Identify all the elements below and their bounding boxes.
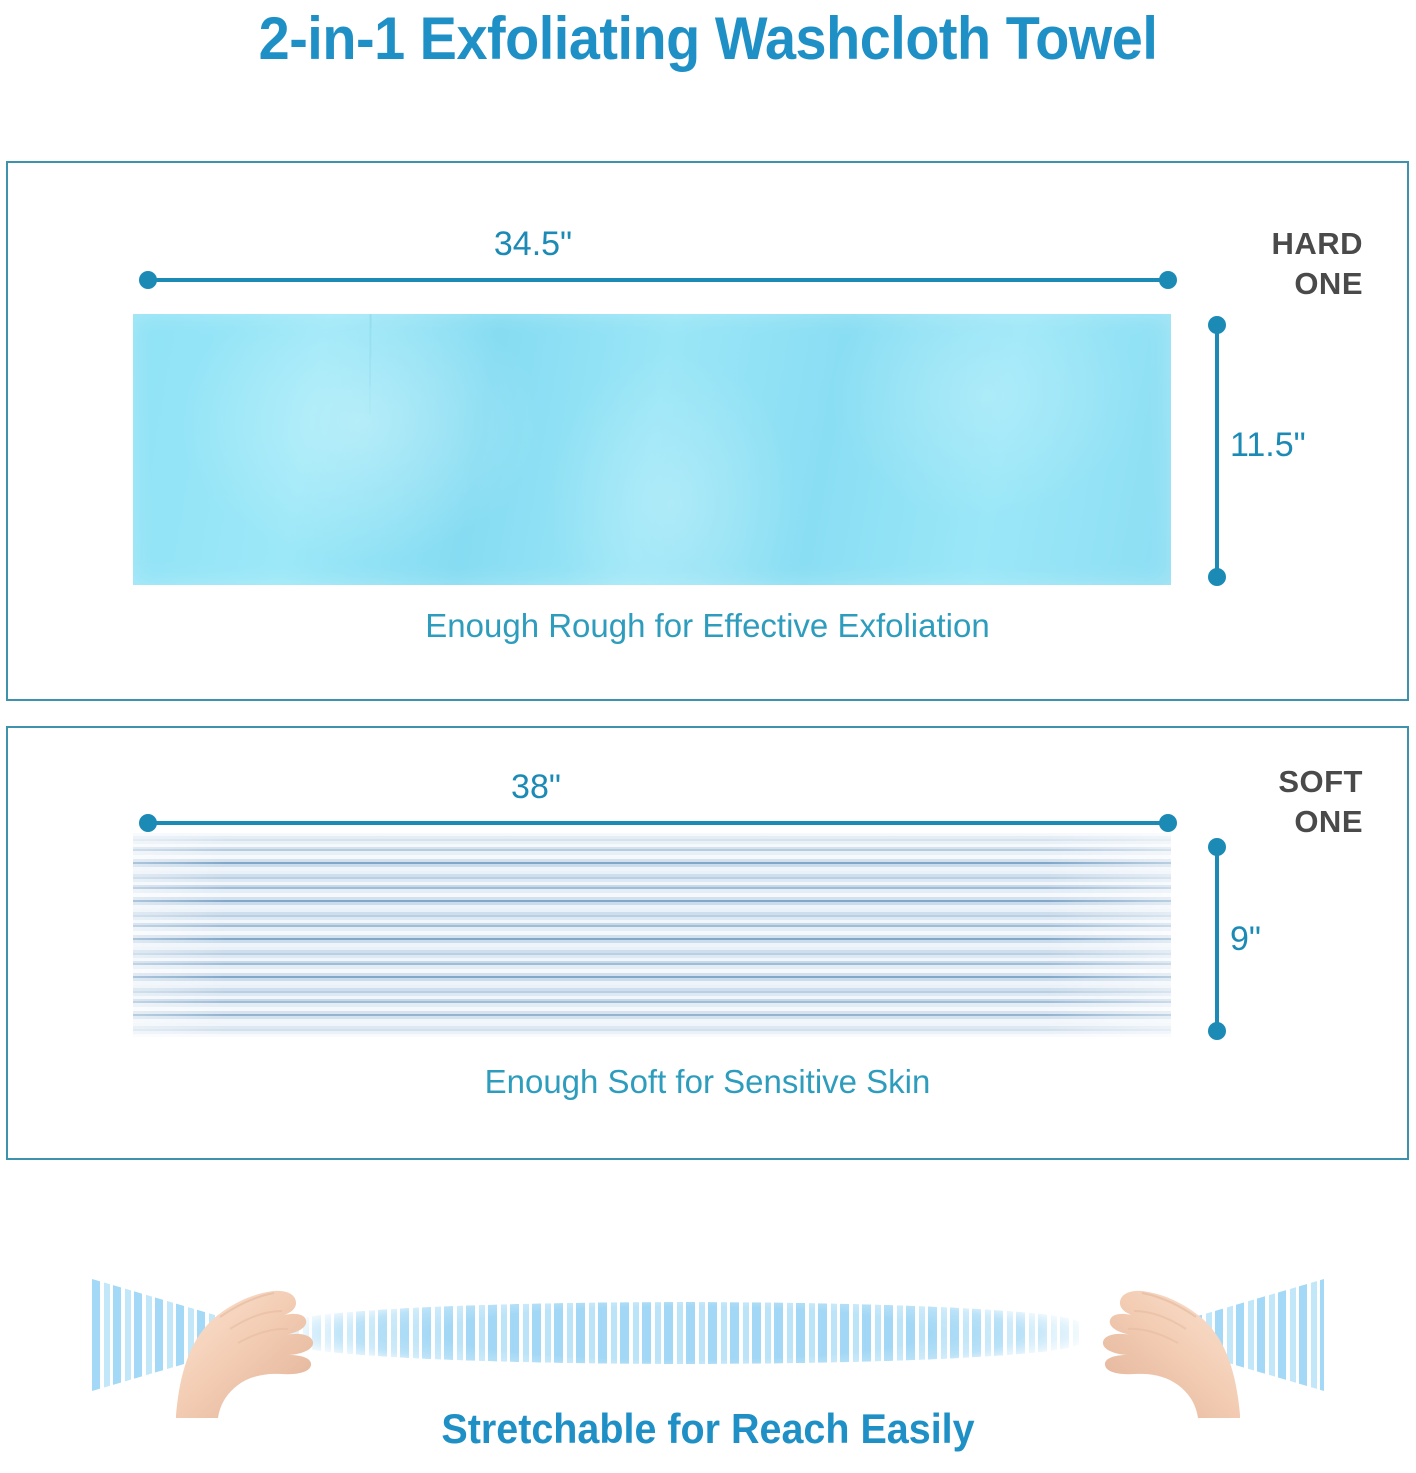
hard-width-dimension-line — [139, 271, 1177, 289]
hard-towel-swatch — [133, 314, 1171, 585]
dimension-endpoint-dot — [1208, 568, 1226, 586]
dimension-bar — [1215, 846, 1219, 1032]
dimension-endpoint-dot — [1159, 271, 1177, 289]
side-label-hard-line2: ONE — [1271, 264, 1363, 304]
soft-height-dimension-line — [1208, 838, 1226, 1040]
product-infographic: 2-in-1 Exfoliating Washcloth Towel HARD … — [0, 0, 1416, 1473]
hand-right-icon — [1046, 1273, 1246, 1418]
hand-left-icon — [170, 1273, 370, 1418]
stretch-illustration — [0, 1255, 1416, 1420]
side-label-hard: HARD ONE — [1271, 224, 1363, 303]
soft-width-dimension-line — [139, 814, 1177, 832]
soft-towel-caption: Enough Soft for Sensitive Skin — [8, 1063, 1407, 1101]
hard-towel-caption: Enough Rough for Effective Exfoliation — [8, 607, 1407, 645]
soft-towel-swatch — [133, 833, 1171, 1037]
side-label-hard-line1: HARD — [1271, 224, 1363, 264]
dimension-bar — [1215, 324, 1219, 578]
dimension-endpoint-dot — [1208, 1022, 1226, 1040]
hard-height-dimension-line — [1208, 316, 1226, 586]
hard-height-dimension-label: 11.5" — [1230, 426, 1306, 465]
page-title: 2-in-1 Exfoliating Washcloth Towel — [50, 4, 1367, 73]
hard-width-dimension-label: 34.5" — [413, 225, 653, 264]
side-label-soft: SOFT ONE — [1278, 762, 1363, 841]
side-label-soft-line2: ONE — [1278, 802, 1363, 842]
side-label-soft-line1: SOFT — [1278, 762, 1363, 802]
towel-stretched-middle — [290, 1302, 1080, 1364]
dimension-bar — [147, 278, 1169, 282]
soft-width-dimension-label: 38" — [416, 768, 656, 807]
soft-height-dimension-label: 9" — [1230, 920, 1261, 959]
dimension-bar — [147, 821, 1169, 825]
stretch-caption: Stretchable for Reach Easily — [42, 1405, 1373, 1453]
dimension-endpoint-dot — [1159, 814, 1177, 832]
